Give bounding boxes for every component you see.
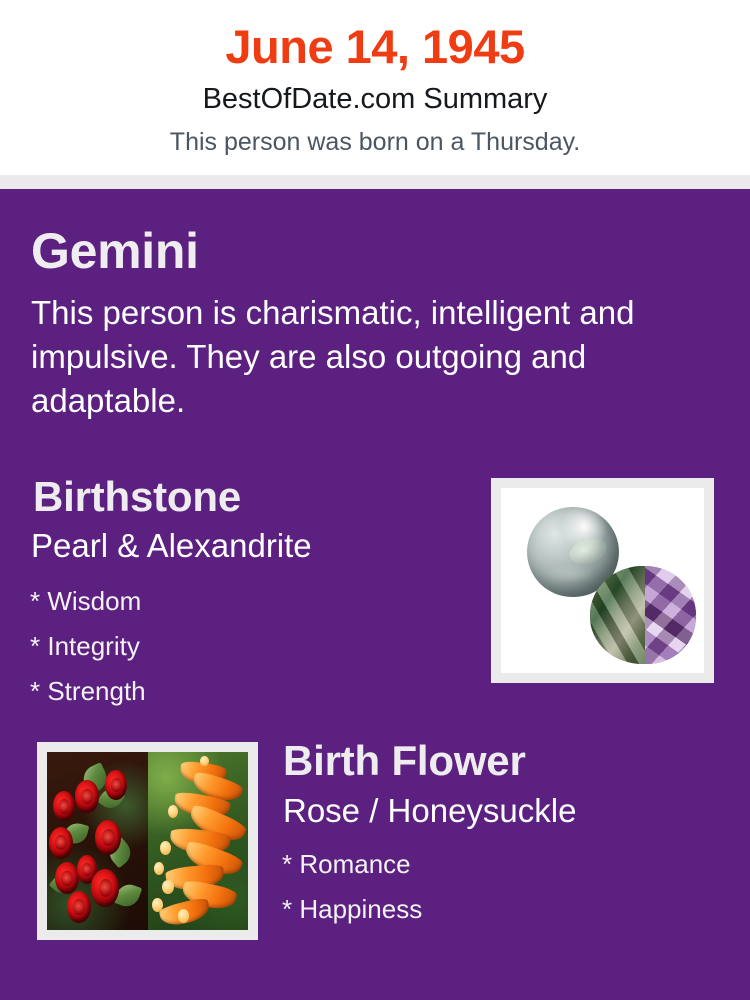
summary-body: Gemini This person is charismatic, intel…: [0, 189, 750, 1000]
born-day-line: This person was born on a Thursday.: [0, 130, 750, 155]
birthstone-names: Pearl & Alexandrite: [31, 529, 312, 562]
list-item: * Happiness: [282, 887, 702, 932]
rose-photo-half: [47, 752, 148, 930]
honeysuckle-photo-half: [148, 752, 249, 930]
birth-flower-image: [47, 752, 248, 930]
birthstone-image-frame: [491, 478, 714, 683]
list-item: * Strength: [30, 669, 450, 714]
birth-flower-image-frame: [37, 742, 258, 940]
header-divider: [0, 175, 750, 189]
birthstone-heading: Birthstone: [33, 476, 241, 518]
birthstone-trait-list: * Wisdom * Integrity * Strength: [30, 579, 450, 714]
header: June 14, 1945 BestOfDate.com Summary Thi…: [0, 0, 750, 175]
alexandrite-gem-shape: [590, 566, 696, 664]
list-item: * Integrity: [30, 624, 450, 669]
birth-flower-names: Rose / Honeysuckle: [283, 794, 576, 827]
birth-flower-trait-list: * Romance * Happiness: [282, 842, 702, 932]
birthstone-image: [501, 488, 704, 673]
alexandrite-faceted-half: [645, 566, 696, 664]
zodiac-description: This person is charismatic, intelligent …: [31, 291, 703, 423]
page-title-date: June 14, 1945: [0, 23, 750, 70]
bestofdate-summary-card: June 14, 1945 BestOfDate.com Summary Thi…: [0, 0, 750, 1000]
list-item: * Wisdom: [30, 579, 450, 624]
zodiac-sign-name: Gemini: [31, 226, 199, 276]
site-name: BestOfDate.com Summary: [0, 85, 750, 114]
list-item: * Romance: [282, 842, 702, 887]
birth-flower-heading: Birth Flower: [283, 740, 526, 782]
alexandrite-rough-half: [590, 566, 645, 664]
